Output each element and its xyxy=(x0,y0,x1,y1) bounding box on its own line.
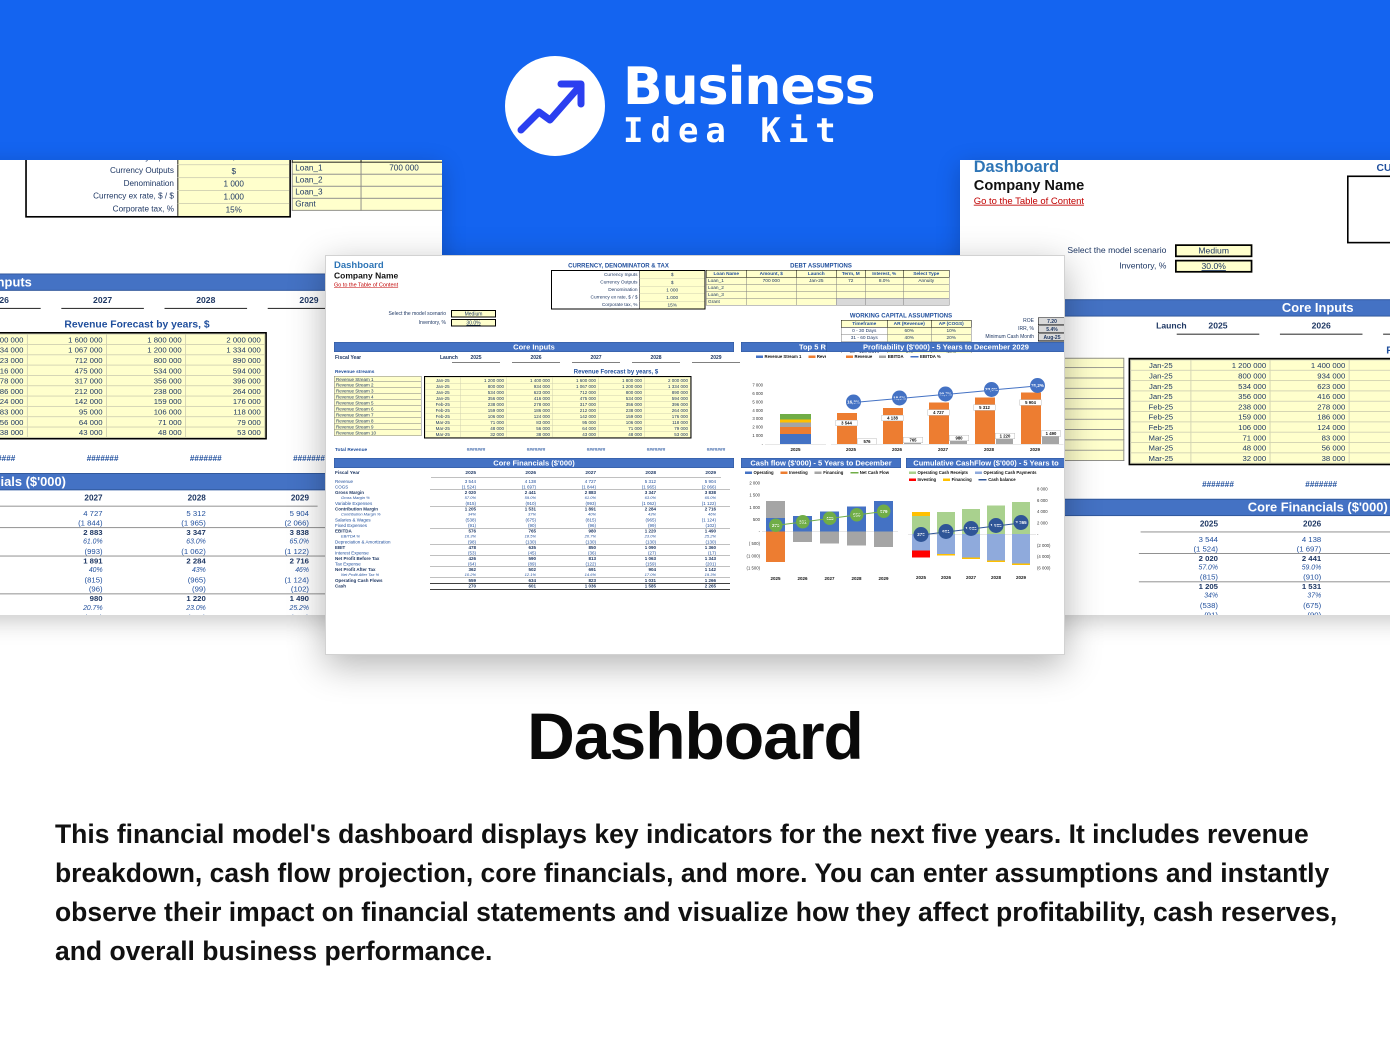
cf-row-value: (90) xyxy=(1273,611,1321,615)
currency-row-value[interactable]: $ xyxy=(177,164,289,177)
revenue-value-cell[interactable]: 159 000 xyxy=(1191,412,1270,422)
legend-swatch xyxy=(911,356,919,358)
revenue-value-cell[interactable]: 317 000 xyxy=(27,375,106,385)
debt-cell[interactable]: 700 000 xyxy=(361,162,442,174)
cf-row-value: 2 716 xyxy=(261,556,309,565)
cf-row-value: (965) xyxy=(628,518,656,523)
debt-cell[interactable]: 8.0% xyxy=(865,277,903,284)
cf-rule xyxy=(0,556,333,557)
cf-rule xyxy=(430,583,730,584)
revenue-value-cell[interactable]: 48 000 xyxy=(598,431,644,437)
legend-item: Operating Cash Receipts xyxy=(909,470,968,475)
revenue-value-cell[interactable]: 83 000 xyxy=(0,406,27,416)
debt-cell[interactable] xyxy=(903,298,949,305)
year-underline xyxy=(1177,334,1260,335)
cf-row-value: 4 138 xyxy=(1273,535,1321,544)
cf-row-value: 576 xyxy=(448,529,476,534)
year-underline xyxy=(452,362,500,363)
financing-bar xyxy=(987,561,1005,563)
y-tick: (6 000) xyxy=(1037,566,1065,571)
legend-swatch xyxy=(943,478,950,481)
debt-cell[interactable] xyxy=(865,291,903,298)
cf-row-label: Net Profit After Tax xyxy=(335,567,376,572)
y-tick: 1 000 xyxy=(741,505,760,510)
revenue-value-cell[interactable]: 71 000 xyxy=(1191,432,1270,442)
debt-col-header: Launch xyxy=(796,270,836,277)
debt-cell[interactable] xyxy=(361,198,442,210)
core-financials-fy-label: Fiscal Year xyxy=(335,470,360,476)
debt-cell[interactable] xyxy=(361,174,442,186)
debt-cell[interactable]: Grant xyxy=(706,298,746,305)
cf-row-value: 57.0% xyxy=(448,496,476,501)
table-row: Feb-25238 000278 000317 000356 000396 00… xyxy=(1131,401,1390,411)
debt-cell[interactable]: Annuity xyxy=(903,277,949,284)
cf-row-value: 635 xyxy=(508,545,536,550)
cf-row-value: 23.0% xyxy=(158,604,206,612)
revenue-value-cell[interactable]: 43 000 xyxy=(552,431,598,437)
revenue-value-cell[interactable]: 416 000 xyxy=(0,365,27,375)
revenue-launch-cell[interactable]: Feb-25 xyxy=(1131,422,1191,432)
revenue-value-cell[interactable]: 1 600 000 xyxy=(27,334,106,344)
fiscal-year-label: Fiscal Year xyxy=(335,355,361,361)
year-underline xyxy=(1383,334,1390,335)
revenue-value-cell[interactable]: 38 000 xyxy=(1270,453,1349,463)
cf-row-value: 25.2% xyxy=(261,604,309,612)
y-tick: 7 000 xyxy=(741,383,763,388)
revenue-value-cell[interactable]: 1 400 000 xyxy=(1270,360,1349,370)
revenue-launch-cell[interactable]: Mar-25 xyxy=(1131,443,1191,453)
x-label: 2028 xyxy=(844,576,869,581)
revenue-value-cell[interactable]: 396 000 xyxy=(186,375,265,385)
cf-row-value: (965) xyxy=(158,575,206,584)
revenue-value-cell[interactable]: 1 067 000 xyxy=(27,344,106,354)
year-header: 2026 xyxy=(1295,322,1348,331)
core-inputs-band: Core Inputs xyxy=(334,342,734,352)
cf-year-header: 2026 xyxy=(508,470,536,476)
investing-bar xyxy=(912,551,930,558)
debt-cell[interactable] xyxy=(796,298,836,305)
legend-label: Revenue xyxy=(855,354,873,359)
legend-item: Investing xyxy=(909,477,936,482)
revenue-value-cell[interactable]: 534 000 xyxy=(1191,381,1270,391)
debt-cell[interactable]: Grant xyxy=(292,198,361,210)
debt-cell[interactable]: Loan_3 xyxy=(292,186,361,198)
sheet-title: Dashboard xyxy=(974,160,1059,177)
year-underline xyxy=(512,362,560,363)
revenue-value-cell[interactable]: 356 000 xyxy=(1191,391,1270,401)
ebitda-value-label: 1 490 xyxy=(1041,430,1061,436)
legend-swatch xyxy=(808,355,815,358)
debt-cell[interactable] xyxy=(865,284,903,291)
year-header: 2028 xyxy=(641,355,672,361)
cf-row-value: 5 312 xyxy=(158,509,206,518)
revenue-value-cell[interactable]: 124 000 xyxy=(0,396,27,406)
legend-label: Revenue Stream 1 xyxy=(765,354,802,359)
cash-flow-chart: OperatingInvestingFinancingNet Cash Flow… xyxy=(741,469,901,584)
kpi-value: 7.20 xyxy=(1038,318,1065,326)
currency-row-value[interactable]: $ xyxy=(640,279,705,287)
cf-row-value: 2 716 xyxy=(688,507,716,512)
revenue-value-cell[interactable]: 43 000 xyxy=(27,427,106,437)
cf-row-value: 813 xyxy=(568,556,596,561)
debt-cell[interactable]: Loan_3 xyxy=(706,291,746,298)
revenue-value-cell[interactable]: 2 000 000 xyxy=(186,334,265,344)
y-tick: 5 000 xyxy=(741,399,763,404)
currency-row: Currency ex rate, $ / $1.000 xyxy=(27,190,289,203)
table-of-content-link[interactable]: Go to the Table of Content xyxy=(334,282,398,288)
cf-row-value: 1 360 xyxy=(688,545,716,550)
revenue-stream-name[interactable]: Revenue Stream 10 xyxy=(334,430,422,436)
revenue-bar xyxy=(837,413,857,444)
revenue-value-cell[interactable]: 48 000 xyxy=(106,427,185,437)
revenue-value-cell[interactable]: 623 000 xyxy=(0,355,27,365)
legend-swatch xyxy=(909,471,916,474)
revenue-value-cell[interactable]: 594 000 xyxy=(186,365,265,375)
cf-row-value: 1 343 xyxy=(688,556,716,561)
legend-label: Net Cash Flow xyxy=(860,470,889,475)
cf-row-value: 980 xyxy=(568,529,596,534)
cf-year-header: 2027 xyxy=(1376,519,1390,528)
debt-cell[interactable] xyxy=(746,284,796,291)
legend-item: EBITDA xyxy=(879,354,903,359)
cf-row: Gross Margin2 0202 4412 8833 3473 838 xyxy=(0,528,333,537)
revenue-value-cell[interactable]: 934 000 xyxy=(1270,370,1349,380)
cf-row-value: (1 062) xyxy=(158,547,206,556)
revenue-value-cell[interactable]: 79 000 xyxy=(186,417,265,427)
currency-row-value[interactable]: 1.000 xyxy=(177,190,289,203)
revenue-value-cell[interactable]: 712 000 xyxy=(27,355,106,365)
revenue-value-label: 4 727 xyxy=(928,410,950,416)
revenue-value-cell[interactable]: 142 000 xyxy=(27,396,106,406)
revenue-value-cell[interactable]: 238 000 xyxy=(1191,401,1270,411)
revenue-launch-cell[interactable]: Feb-25 xyxy=(1131,412,1191,422)
scenario-select[interactable]: Medium xyxy=(451,310,496,318)
cf-rule xyxy=(430,578,730,579)
cf-row: Contribution Margin1 2051 5311 8912 2842… xyxy=(0,556,333,565)
cf-row-value: 1 891 xyxy=(568,507,596,512)
cf-rule xyxy=(1139,553,1390,554)
currency-row-value[interactable]: $ xyxy=(640,271,705,279)
currency-row-label: Currency ex rate, $ / $ xyxy=(27,190,178,203)
table-row: Loan_3 xyxy=(706,291,949,298)
revenue-value-cell[interactable]: 186 000 xyxy=(0,386,27,396)
financing-bar xyxy=(847,532,866,546)
legend-label: Financing xyxy=(823,470,843,475)
revenue-value-cell[interactable]: 32 000 xyxy=(460,431,506,437)
cf-row-value: 65.0% xyxy=(261,538,309,546)
revenue-value-cell[interactable]: 118 000 xyxy=(186,406,265,416)
revenue-value-cell[interactable]: 712 000 xyxy=(1349,381,1390,391)
revenue-value-cell[interactable]: 32 000 xyxy=(1191,453,1270,463)
debt-cell[interactable] xyxy=(836,284,865,291)
debt-cell[interactable]: Loan_1 xyxy=(706,277,746,284)
currency-row-value[interactable]: 1.000 xyxy=(640,294,705,302)
kpi-label: ROE xyxy=(1023,318,1034,324)
spreadsheet-sheet-main: DashboardCompany NameGo to the Table of … xyxy=(326,256,1065,655)
cf-row-value: 2 265 xyxy=(688,584,716,589)
debt-cell[interactable] xyxy=(836,291,865,298)
scenario-select[interactable]: Medium xyxy=(1175,244,1252,257)
table-row: Loan_3 xyxy=(292,186,442,198)
table-row: Loan_1700 000Jan-25728.0%Annuity xyxy=(292,162,442,174)
currency-row-value[interactable]: 15% xyxy=(640,301,705,309)
revenue-value-cell[interactable]: 416 000 xyxy=(1270,391,1349,401)
revenue-value-cell[interactable]: 95 000 xyxy=(27,406,106,416)
revenue-value-cell[interactable]: 106 000 xyxy=(1191,422,1270,432)
financing-bar xyxy=(1012,563,1030,565)
table-row: Mar-2532 00038 00043 00048 00053 000 xyxy=(425,431,690,437)
cf-row: Salaries & Wages(538)(675)(815)(965)(1 1… xyxy=(0,575,333,584)
table-row: 31 - 60 Days40%20% xyxy=(841,334,971,341)
cf-row-value: 2 883 xyxy=(1376,554,1390,563)
sheet-title: Dashboard xyxy=(334,260,384,271)
cf-row-label: Variable Expenses xyxy=(335,501,372,506)
total-revenue-value: ####### xyxy=(76,454,129,463)
inventory-value[interactable]: 30.0% xyxy=(451,319,496,327)
revenue-value-cell[interactable]: 800 000 xyxy=(106,355,185,365)
revenue-value-cell[interactable]: 356 000 xyxy=(106,375,185,385)
ebitda-value-label: 576 xyxy=(857,438,877,444)
stack-segment xyxy=(780,427,811,434)
table-row: 0 - 30 Days60%10% xyxy=(841,327,971,334)
revenue-value-cell[interactable]: 238 000 xyxy=(106,386,185,396)
year-header: 2028 xyxy=(179,296,232,305)
debt-cell[interactable]: Loan_2 xyxy=(292,174,361,186)
debt-cell[interactable] xyxy=(746,291,796,298)
revenue-value-cell[interactable]: 1 600 000 xyxy=(1349,360,1390,370)
cf-row-value: 1 036 xyxy=(568,584,596,589)
revenue-value-cell[interactable]: 1 200 000 xyxy=(1191,360,1270,370)
debt-cell[interactable]: 700 000 xyxy=(746,277,796,284)
revenue-value-cell[interactable]: 106 000 xyxy=(106,406,185,416)
revenue-launch-cell[interactable]: Mar-25 xyxy=(1131,453,1191,463)
cf-row-label: Interest Expense xyxy=(335,551,369,556)
cf-row-label: Contribution Margin xyxy=(335,507,378,512)
revenue-value-cell[interactable]: 56 000 xyxy=(0,417,27,427)
wc-cell[interactable]: 40% xyxy=(887,334,931,341)
revenue-value-cell[interactable]: 38 000 xyxy=(0,427,27,437)
legend-label: Operating Cash Receipts xyxy=(918,470,969,475)
legend-swatch xyxy=(909,478,916,481)
cf-row-value: 1 490 xyxy=(688,529,716,534)
revenue-value-cell[interactable]: 53 000 xyxy=(186,427,265,437)
revenue-launch-cell[interactable]: Jan-25 xyxy=(1131,360,1191,370)
cf-row-value: 1 090 xyxy=(628,545,656,550)
revenue-value-cell[interactable]: 43 000 xyxy=(1349,453,1390,463)
cf-row-value: 23.0% xyxy=(628,534,656,539)
cf-row-value: 980 xyxy=(54,594,102,603)
cf-row-value: 40% xyxy=(54,566,102,574)
cf-row-label: Tax Expense xyxy=(335,562,361,567)
y-tick: - xyxy=(741,442,763,447)
y-tick: 2 000 xyxy=(741,425,763,430)
revenue-value-label: 4 138 xyxy=(882,415,904,421)
revenue-value-cell[interactable]: 934 000 xyxy=(0,344,27,354)
cf-row-value: (993) xyxy=(1376,573,1390,582)
revenue-value-cell[interactable]: 53 000 xyxy=(644,431,690,437)
cf-rule xyxy=(430,528,730,529)
revenue-launch-cell[interactable]: Mar-25 xyxy=(425,431,460,437)
revenue-value-cell[interactable]: 1 800 000 xyxy=(106,334,185,344)
x-label: 2029 xyxy=(871,576,896,581)
revenue-value-cell[interactable]: 264 000 xyxy=(186,386,265,396)
core-inputs-band: Core Inputs xyxy=(0,274,340,291)
y-tick: (4 000) xyxy=(1037,554,1065,559)
revenue-value-cell[interactable]: 176 000 xyxy=(186,396,265,406)
revenue-value-cell[interactable]: 212 000 xyxy=(1349,412,1390,422)
debt-cell[interactable] xyxy=(903,291,949,298)
cf-row-value: (96) xyxy=(54,585,102,594)
revenue-value-cell[interactable]: 1 200 000 xyxy=(106,344,185,354)
currency-row-label: Denomination xyxy=(27,177,178,190)
legend-item: Operating xyxy=(745,470,774,475)
year-underline xyxy=(572,362,620,363)
cf-row-value: (675) xyxy=(508,518,536,523)
revenue-value-cell[interactable]: 534 000 xyxy=(106,365,185,375)
currency-row-value[interactable]: 1 000 xyxy=(177,177,289,190)
revenue-value-cell[interactable]: 64 000 xyxy=(1349,443,1390,453)
revenue-value-cell[interactable]: 890 000 xyxy=(186,355,265,365)
legend-label: Investing xyxy=(789,470,808,475)
total-revenue-value: ####### xyxy=(581,447,612,453)
cf-rule xyxy=(430,506,730,507)
y-tick: 4 000 xyxy=(1037,509,1065,514)
currency-table: Currency Inputs$Currency Outputs$Denomin… xyxy=(1347,175,1390,243)
debt-cell[interactable]: Loan_2 xyxy=(706,284,746,291)
total-revenue-value: ####### xyxy=(1191,480,1244,489)
currency-row-label: Denomination xyxy=(552,286,640,294)
x-label: 2028 xyxy=(972,447,1006,452)
debt-cell[interactable] xyxy=(796,284,836,291)
revenue-value-cell[interactable]: 800 000 xyxy=(1191,370,1270,380)
cf-row-label: Net Profit Before Tax xyxy=(335,556,379,561)
debt-cell[interactable] xyxy=(903,284,949,291)
cf-row-value: 57.0% xyxy=(1170,563,1218,571)
year-underline xyxy=(692,362,740,363)
y-tick: 2 000 xyxy=(1037,520,1065,525)
legend-item: Revenue Stream 1 xyxy=(756,354,801,359)
revenue-value-cell[interactable]: 1 400 000 xyxy=(0,334,27,344)
year-header: 2027 xyxy=(76,296,129,305)
wc-cell: 0 - 30 Days xyxy=(841,327,887,334)
revenue-value-cell[interactable]: 95 000 xyxy=(1349,432,1390,442)
year-underline xyxy=(61,308,144,309)
revenue-value-cell[interactable]: 48 000 xyxy=(1191,443,1270,453)
debt-cell[interactable] xyxy=(746,298,796,305)
cf-row-label: Operating Cash Flows xyxy=(335,578,383,583)
revenue-value-cell[interactable]: 38 000 xyxy=(506,431,552,437)
revenue-value-cell[interactable]: 278 000 xyxy=(0,375,27,385)
cf-row-value: 37% xyxy=(508,512,536,517)
debt-cell[interactable] xyxy=(361,186,442,198)
revenue-value-cell[interactable]: 64 000 xyxy=(27,417,106,427)
debt-cell[interactable] xyxy=(865,298,903,305)
cf-row-value: 2 441 xyxy=(508,490,536,495)
revenue-value-cell[interactable]: 71 000 xyxy=(106,417,185,427)
year-underline xyxy=(632,362,680,363)
cf-row-value: 3 544 xyxy=(1170,535,1218,544)
cf-year-header: 2027 xyxy=(568,470,596,476)
cf-row-value: 61.0% xyxy=(54,538,102,546)
cf-row-value: 1 891 xyxy=(1376,582,1390,591)
revenue-value-cell[interactable]: 317 000 xyxy=(1349,401,1390,411)
debt-cell[interactable] xyxy=(796,291,836,298)
revenue-value-cell[interactable]: 623 000 xyxy=(1270,381,1349,391)
currency-row-value[interactable]: 1 000 xyxy=(640,286,705,294)
legend-item: Investing xyxy=(781,470,808,475)
currency-row-value[interactable]: 15% xyxy=(177,203,289,216)
revenue-value-cell[interactable]: 159 000 xyxy=(106,396,185,406)
cf-row-value: 34% xyxy=(448,512,476,517)
cf-row-value: 2 020 xyxy=(1170,554,1218,563)
cf-row-value: 1 205 xyxy=(448,507,476,512)
currency-row-label: Currency ex rate, $ / $ xyxy=(552,294,640,302)
currency-row: Currency ex rate, $ / $1.000 xyxy=(1349,216,1390,229)
cf-year-header: 2029 xyxy=(688,470,716,476)
cf-bottom-rule xyxy=(430,589,730,590)
wc-cell[interactable]: 20% xyxy=(931,334,971,341)
currency-block-title: CURRENCY, DENOMINATOR & TAX xyxy=(1330,162,1390,174)
revenue-value-cell[interactable]: 475 000 xyxy=(1349,391,1390,401)
page-title: Dashboard xyxy=(0,698,1390,774)
currency-row-label: Currency Inputs xyxy=(552,271,640,279)
cf-row-label: EBITDA % xyxy=(341,534,360,539)
debt-cell[interactable] xyxy=(836,298,865,305)
cumulative-cash-flow-chart: Operating Cash ReceiptsOperating Cash Pa… xyxy=(906,469,1065,584)
table-of-content-link[interactable]: Go to the Table of Content xyxy=(974,196,1084,206)
ebitda-value-label: 1 220 xyxy=(995,433,1015,439)
cf-row-value: 20.7% xyxy=(568,534,596,539)
cf-row-value: 2 441 xyxy=(1273,554,1321,563)
y-tick: 6 000 xyxy=(1037,498,1065,503)
revenue-launch-cell[interactable]: Feb-25 xyxy=(1131,401,1191,411)
revenue-launch-cell[interactable]: Jan-25 xyxy=(1131,381,1191,391)
revenue-value-cell[interactable]: 1 067 000 xyxy=(1349,370,1390,380)
revenue-value-cell[interactable]: 186 000 xyxy=(1270,412,1349,422)
cf-row-value: 40% xyxy=(568,512,596,517)
debt-cell[interactable]: 72 xyxy=(836,277,865,284)
cf-row-label: Revenue xyxy=(335,479,353,484)
revenue-launch-cell[interactable]: Jan-25 xyxy=(1131,370,1191,380)
currency-row: Currency Outputs$ xyxy=(27,164,289,177)
cf-row-value: 590 xyxy=(508,556,536,561)
revenue-value-cell[interactable]: 278 000 xyxy=(1270,401,1349,411)
cf-row-value: 63.0% xyxy=(628,496,656,501)
revenue-value-cell[interactable]: 1 334 000 xyxy=(186,344,265,354)
cf-row: Depreciation & Amortization(98)(130)(130… xyxy=(0,613,333,615)
revenue-value-cell[interactable]: 124 000 xyxy=(1270,422,1349,432)
debt-cell[interactable]: Jan-25 xyxy=(796,277,836,284)
cf-row-value: 4 727 xyxy=(568,479,596,484)
cf-row-value: (102) xyxy=(261,585,309,594)
debt-cell[interactable]: Loan_1 xyxy=(292,162,361,174)
growth-arrow-icon xyxy=(505,56,605,156)
cf-rule xyxy=(430,567,730,568)
wc-cell[interactable]: 60% xyxy=(887,327,931,334)
revenue-value-cell[interactable]: 142 000 xyxy=(1349,422,1390,432)
revenue-launch-cell[interactable]: Jan-25 xyxy=(1131,391,1191,401)
x-label: 2028 xyxy=(984,575,1008,580)
cf-row-value: 43% xyxy=(628,512,656,517)
revenue-launch-cell[interactable]: Mar-25 xyxy=(1131,432,1191,442)
company-name: Company Name xyxy=(974,177,1084,194)
inventory-value[interactable]: 30.0% xyxy=(1175,260,1252,273)
revenue-value-cell[interactable]: 83 000 xyxy=(1270,432,1349,442)
revenue-value-cell[interactable]: 56 000 xyxy=(1270,443,1349,453)
revenue-value-cell[interactable]: 475 000 xyxy=(27,365,106,375)
wc-cell[interactable]: 10% xyxy=(931,327,971,334)
revenue-value-cell[interactable]: 212 000 xyxy=(27,386,106,396)
